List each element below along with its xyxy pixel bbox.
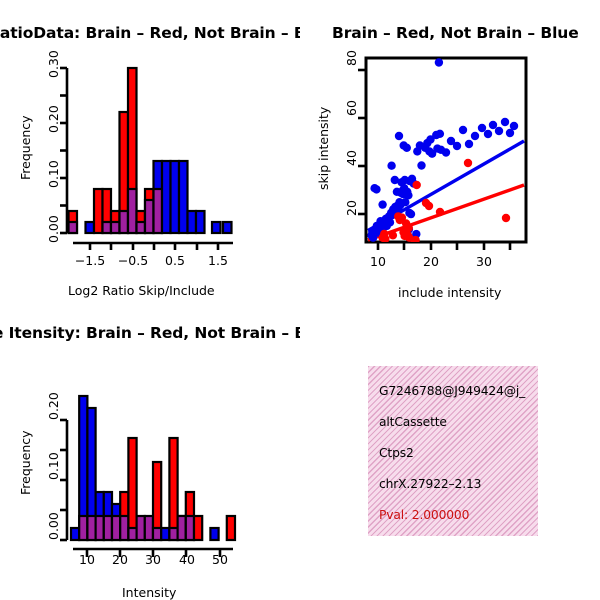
panel-intensity-histogram: ne Itensity: Brain – Red, Not Brain – B … bbox=[0, 300, 300, 600]
annotation-lines: G7246788@J949424@j_ altCassette Ctps2 ch… bbox=[379, 384, 538, 522]
figure-canvas: RatioData: Brain – Red, Not Brain – Blu … bbox=[0, 0, 600, 600]
panel-ratio-xaxis bbox=[73, 243, 233, 250]
panel-intensity-plot bbox=[0, 300, 300, 600]
annotation-pvalue: Pval: 2.000000 bbox=[379, 508, 538, 522]
annotation-gene-symbol: Ctps2 bbox=[379, 446, 538, 460]
annotation-event-id: G7246788@J949424@j_ bbox=[379, 384, 538, 398]
panel-info: G7246788@J949424@j_ altCassette Ctps2 ch… bbox=[300, 300, 600, 600]
panel-scatter-plot bbox=[300, 0, 600, 300]
panel-intensity-xaxis bbox=[73, 549, 233, 557]
annotation-box[interactable]: G7246788@J949424@j_ altCassette Ctps2 ch… bbox=[368, 366, 538, 536]
panel-ratio-bars bbox=[69, 68, 232, 233]
panel-ratio-histogram: RatioData: Brain – Red, Not Brain – Blu … bbox=[0, 0, 300, 300]
annotation-event-type: altCassette bbox=[379, 415, 538, 429]
panel-intensity-bars bbox=[71, 396, 235, 540]
annotation-locus: chrX.27922–2.13 bbox=[379, 477, 538, 491]
panel-ratio-yaxis bbox=[60, 68, 67, 233]
panel-scatter: Brain – Red, Not Brain – Blue skip inten… bbox=[300, 0, 600, 300]
panel-ratio-plot bbox=[0, 0, 300, 300]
panel-intensity-yaxis bbox=[60, 420, 67, 540]
